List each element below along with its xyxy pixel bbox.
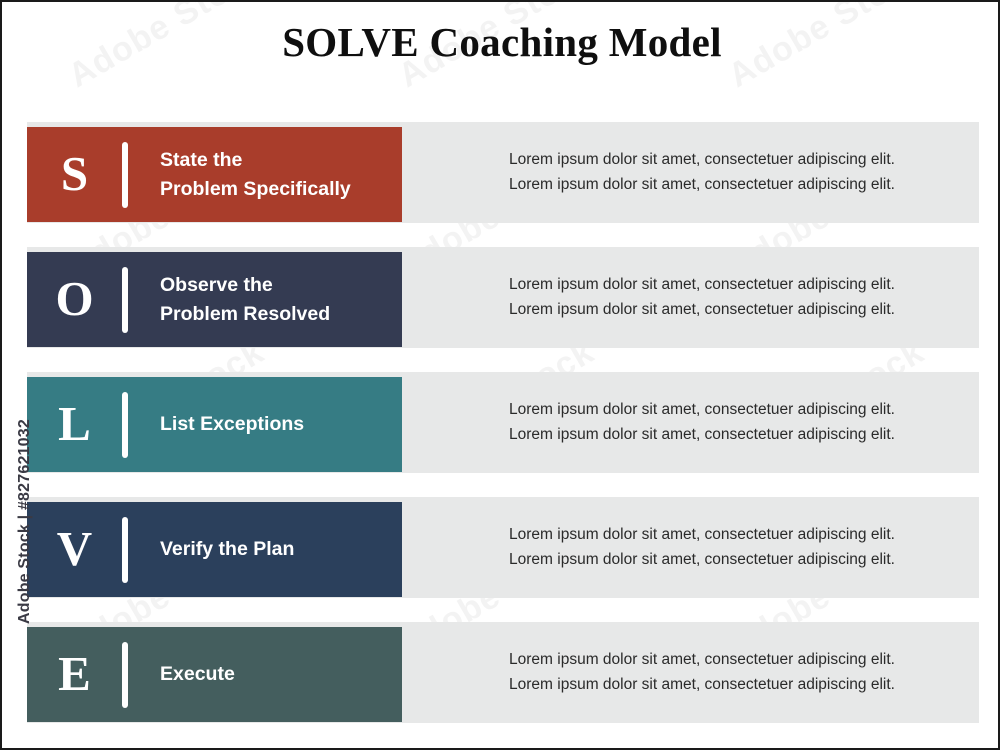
step-label: Verify the Plan [128,535,402,563]
description-line: Lorem ipsum dolor sit amet, consectetuer… [472,548,932,572]
solve-row: Lorem ipsum dolor sit amet, consectetuer… [2,247,1000,348]
description-line: Lorem ipsum dolor sit amet, consectetuer… [472,398,932,422]
step-label: Execute [128,660,402,688]
description-line: Lorem ipsum dolor sit amet, consectetuer… [472,673,932,697]
letter-block[interactable]: EExecute [27,627,402,722]
description-line: Lorem ipsum dolor sit amet, consectetuer… [472,173,932,197]
step-label: Observe theProblem Resolved [128,271,402,328]
step-label-line: Execute [160,663,235,685]
step-label-line: Problem Resolved [160,300,392,328]
stock-id-watermark: Adobe Stock | #827621032 [16,414,34,624]
letter-block[interactable]: LList Exceptions [27,377,402,472]
solve-row: Lorem ipsum dolor sit amet, consectetuer… [2,622,1000,723]
description-line: Lorem ipsum dolor sit amet, consectetuer… [472,523,932,547]
description-text: Lorem ipsum dolor sit amet, consectetuer… [472,122,932,223]
description-line: Lorem ipsum dolor sit amet, consectetuer… [472,648,932,672]
step-label-line: Verify the Plan [160,538,294,560]
acronym-letter: L [27,399,122,450]
acronym-letter: E [27,649,122,700]
description-text: Lorem ipsum dolor sit amet, consectetuer… [472,247,932,348]
description-line: Lorem ipsum dolor sit amet, consectetuer… [472,273,932,297]
acronym-letter: S [27,149,122,200]
page-title: SOLVE Coaching Model [2,18,1000,66]
acronym-letter: O [27,274,122,325]
description-text: Lorem ipsum dolor sit amet, consectetuer… [472,622,932,723]
step-label-line: List Exceptions [160,413,304,435]
description-line: Lorem ipsum dolor sit amet, consectetuer… [472,423,932,447]
solve-row: Lorem ipsum dolor sit amet, consectetuer… [2,497,1000,598]
description-text: Lorem ipsum dolor sit amet, consectetuer… [472,497,932,598]
step-label-line: Observe the [160,274,273,296]
description-line: Lorem ipsum dolor sit amet, consectetuer… [472,298,932,322]
description-text: Lorem ipsum dolor sit amet, consectetuer… [472,372,932,473]
step-label-line: State the [160,149,242,171]
letter-block[interactable]: VVerify the Plan [27,502,402,597]
solve-row: Lorem ipsum dolor sit amet, consectetuer… [2,122,1000,223]
step-label: List Exceptions [128,410,402,438]
step-label-line: Problem Specifically [160,175,392,203]
letter-block[interactable]: SState theProblem Specifically [27,127,402,222]
description-line: Lorem ipsum dolor sit amet, consectetuer… [472,148,932,172]
acronym-letter: V [27,524,122,575]
step-label: State theProblem Specifically [128,146,402,203]
solve-rows-list: Lorem ipsum dolor sit amet, consectetuer… [2,122,1000,747]
letter-block[interactable]: OObserve theProblem Resolved [27,252,402,347]
infographic-slide: Adobe StockAdobe StockAdobe StockAdobe S… [0,0,1000,750]
solve-row: Lorem ipsum dolor sit amet, consectetuer… [2,372,1000,473]
